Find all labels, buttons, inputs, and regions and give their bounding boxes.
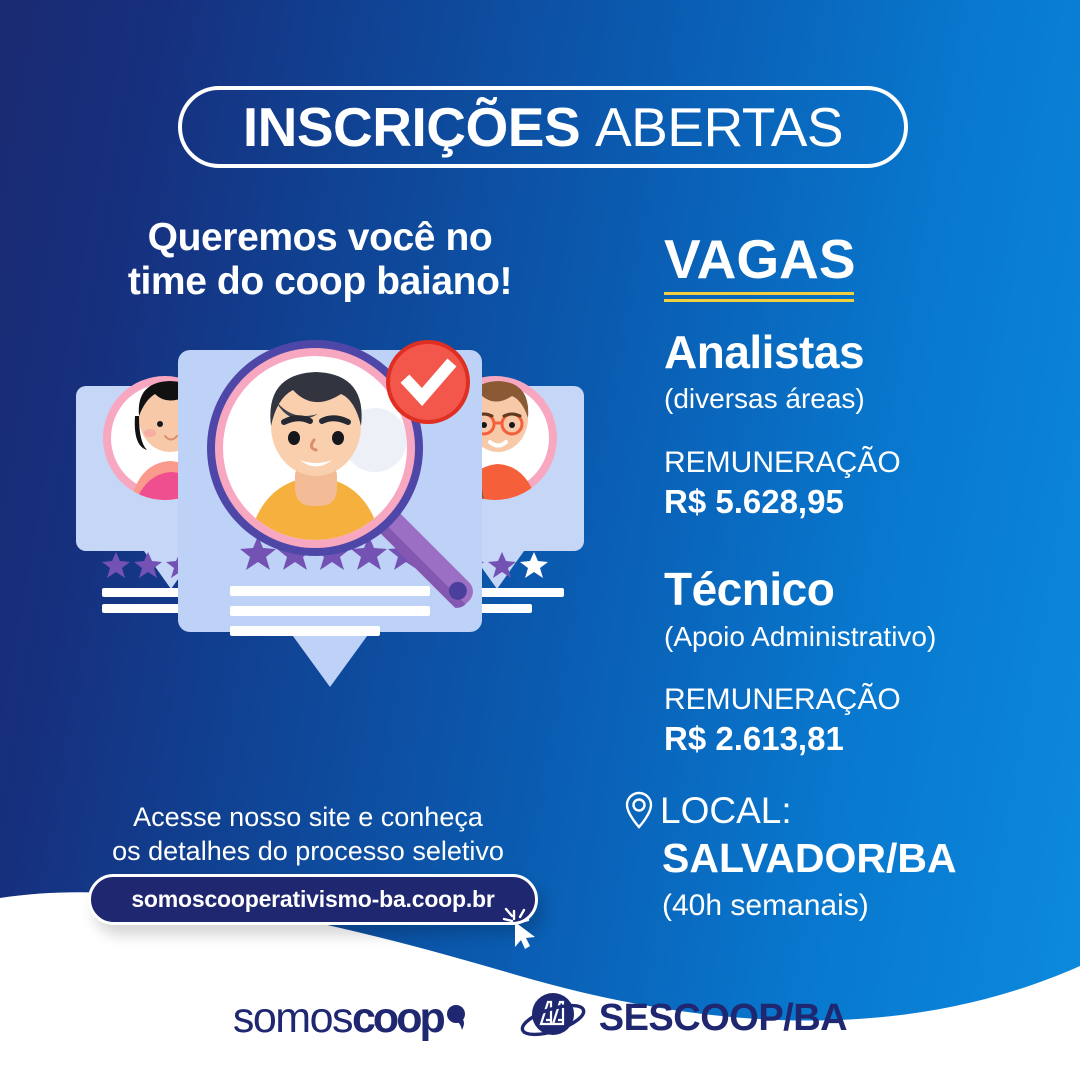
- vagas-underline-2: [664, 299, 854, 302]
- pay-value: R$ 5.628,95: [664, 482, 1064, 522]
- job-title: Técnico: [664, 565, 1064, 613]
- job-tecnico: Técnico (Apoio Administrativo) REMUNERAÇ…: [664, 565, 1064, 758]
- somoscoop-logo: somos coop: [233, 994, 471, 1043]
- somoscoop-logo-bold: coop: [352, 994, 443, 1043]
- website-url-button[interactable]: somoscooperativismo-ba.coop.br: [88, 874, 538, 925]
- pay-label: REMUNERAÇÃO: [664, 446, 1064, 479]
- vagas-underline-1: [664, 292, 854, 295]
- job-title: Analistas: [664, 328, 1064, 376]
- header-title: INSCRIÇÕES ABERTAS: [243, 100, 843, 155]
- cta-text: Acesse nosso site e conheça os detalhes …: [48, 800, 568, 869]
- vacancies-panel: VAGAS Analistas (diversas áreas) REMUNER…: [664, 232, 1064, 759]
- location-hours: (40h semanais): [662, 889, 1052, 922]
- website-url-label: somoscooperativismo-ba.coop.br: [131, 886, 494, 913]
- location-pin-icon: [622, 790, 656, 830]
- headline: Queremos você no time do coop baiano!: [60, 216, 580, 303]
- sescoop-logo-text: SESCOOP/BA: [599, 997, 847, 1040]
- job-pay: REMUNERAÇÃO R$ 2.613,81: [664, 683, 1064, 759]
- vagas-heading-wrap: VAGAS: [664, 232, 856, 302]
- headline-line-2: time do coop baiano!: [60, 260, 580, 304]
- header-title-bold: INSCRIÇÕES: [243, 96, 580, 158]
- cta-line-1: Acesse nosso site e conheça: [48, 800, 568, 834]
- location-block: LOCAL: SALVADOR/BA (40h semanais): [622, 790, 1052, 922]
- check-circle-icon: [386, 340, 470, 424]
- location-label: LOCAL:: [660, 792, 792, 829]
- somoscoop-logo-light: somos: [233, 994, 352, 1043]
- cta-line-2: os detalhes do processo seletivo: [48, 834, 568, 868]
- pay-value: R$ 2.613,81: [664, 719, 1064, 759]
- job-analistas: Analistas (diversas áreas) REMUNERAÇÃO R…: [664, 328, 1064, 521]
- footer-logos: somos coop SESCOOP/BA: [0, 990, 1080, 1046]
- job-subtitle: (diversas áreas): [664, 382, 1064, 416]
- sescoop-planet-icon: [519, 990, 587, 1046]
- somoscoop-comma-icon: [445, 1002, 471, 1032]
- recruitment-illustration: [70, 330, 590, 780]
- job-pay: REMUNERAÇÃO R$ 5.628,95: [664, 446, 1064, 522]
- vagas-heading: VAGAS: [664, 232, 856, 287]
- job-subtitle: (Apoio Administrativo): [664, 620, 1064, 654]
- header-title-light: ABERTAS: [595, 96, 843, 158]
- location-city: SALVADOR/BA: [662, 836, 1052, 881]
- location-row: LOCAL:: [622, 790, 1052, 830]
- headline-line-1: Queremos você no: [60, 216, 580, 260]
- poster-canvas: INSCRIÇÕES ABERTAS Queremos você no time…: [0, 0, 1080, 1080]
- sescoop-logo: SESCOOP/BA: [519, 990, 847, 1046]
- mouse-cursor-icon: [500, 905, 548, 953]
- header-banner: INSCRIÇÕES ABERTAS: [178, 86, 908, 168]
- pay-label: REMUNERAÇÃO: [664, 683, 1064, 716]
